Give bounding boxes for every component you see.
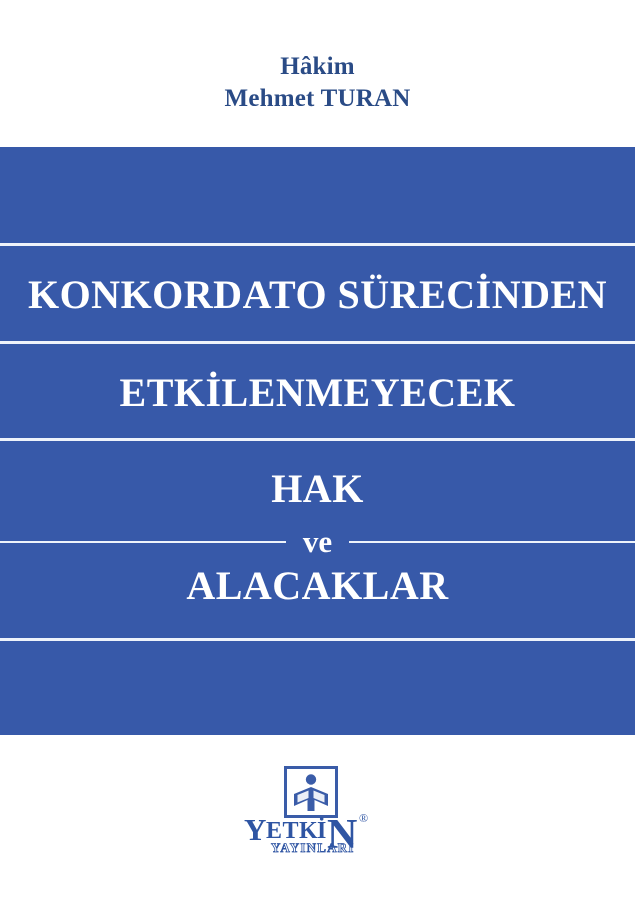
conjunction-word: ve bbox=[286, 526, 349, 557]
title-line-3: HAK bbox=[0, 465, 635, 512]
conjunction-rule-left bbox=[0, 541, 286, 543]
svg-text:YAYINLARI: YAYINLARI bbox=[271, 840, 355, 855]
author-block: Hâkim Mehmet TURAN bbox=[0, 52, 635, 113]
author-name: Mehmet TURAN bbox=[0, 84, 635, 114]
divider-rule-second bbox=[0, 341, 635, 344]
conjunction-rule-right bbox=[349, 541, 635, 543]
title-panel: KONKORDATO SÜRECİNDEN ETKİLENMEYECEK HAK… bbox=[0, 147, 635, 735]
title-line-1: KONKORDATO SÜRECİNDEN bbox=[0, 271, 635, 318]
publisher-logo: Y ETK İ N ® YAYINLARI bbox=[0, 766, 635, 866]
divider-rule-bottom bbox=[0, 638, 635, 641]
author-title: Hâkim bbox=[0, 52, 635, 82]
publisher-wordmark: Y ETK İ N ® YAYINLARI bbox=[244, 804, 392, 856]
svg-text:Y: Y bbox=[244, 812, 266, 847]
title-line-2: ETKİLENMEYECEK bbox=[0, 369, 635, 416]
publisher-logo-inner: Y ETK İ N ® YAYINLARI bbox=[244, 766, 392, 866]
divider-rule-top bbox=[0, 243, 635, 246]
conjunction-row: ve bbox=[0, 519, 635, 565]
svg-text:®: ® bbox=[359, 811, 368, 825]
divider-rule-third bbox=[0, 438, 635, 441]
title-line-4: ALACAKLAR bbox=[0, 562, 635, 609]
book-cover: Hâkim Mehmet TURAN KONKORDATO SÜRECİNDEN… bbox=[0, 0, 635, 900]
